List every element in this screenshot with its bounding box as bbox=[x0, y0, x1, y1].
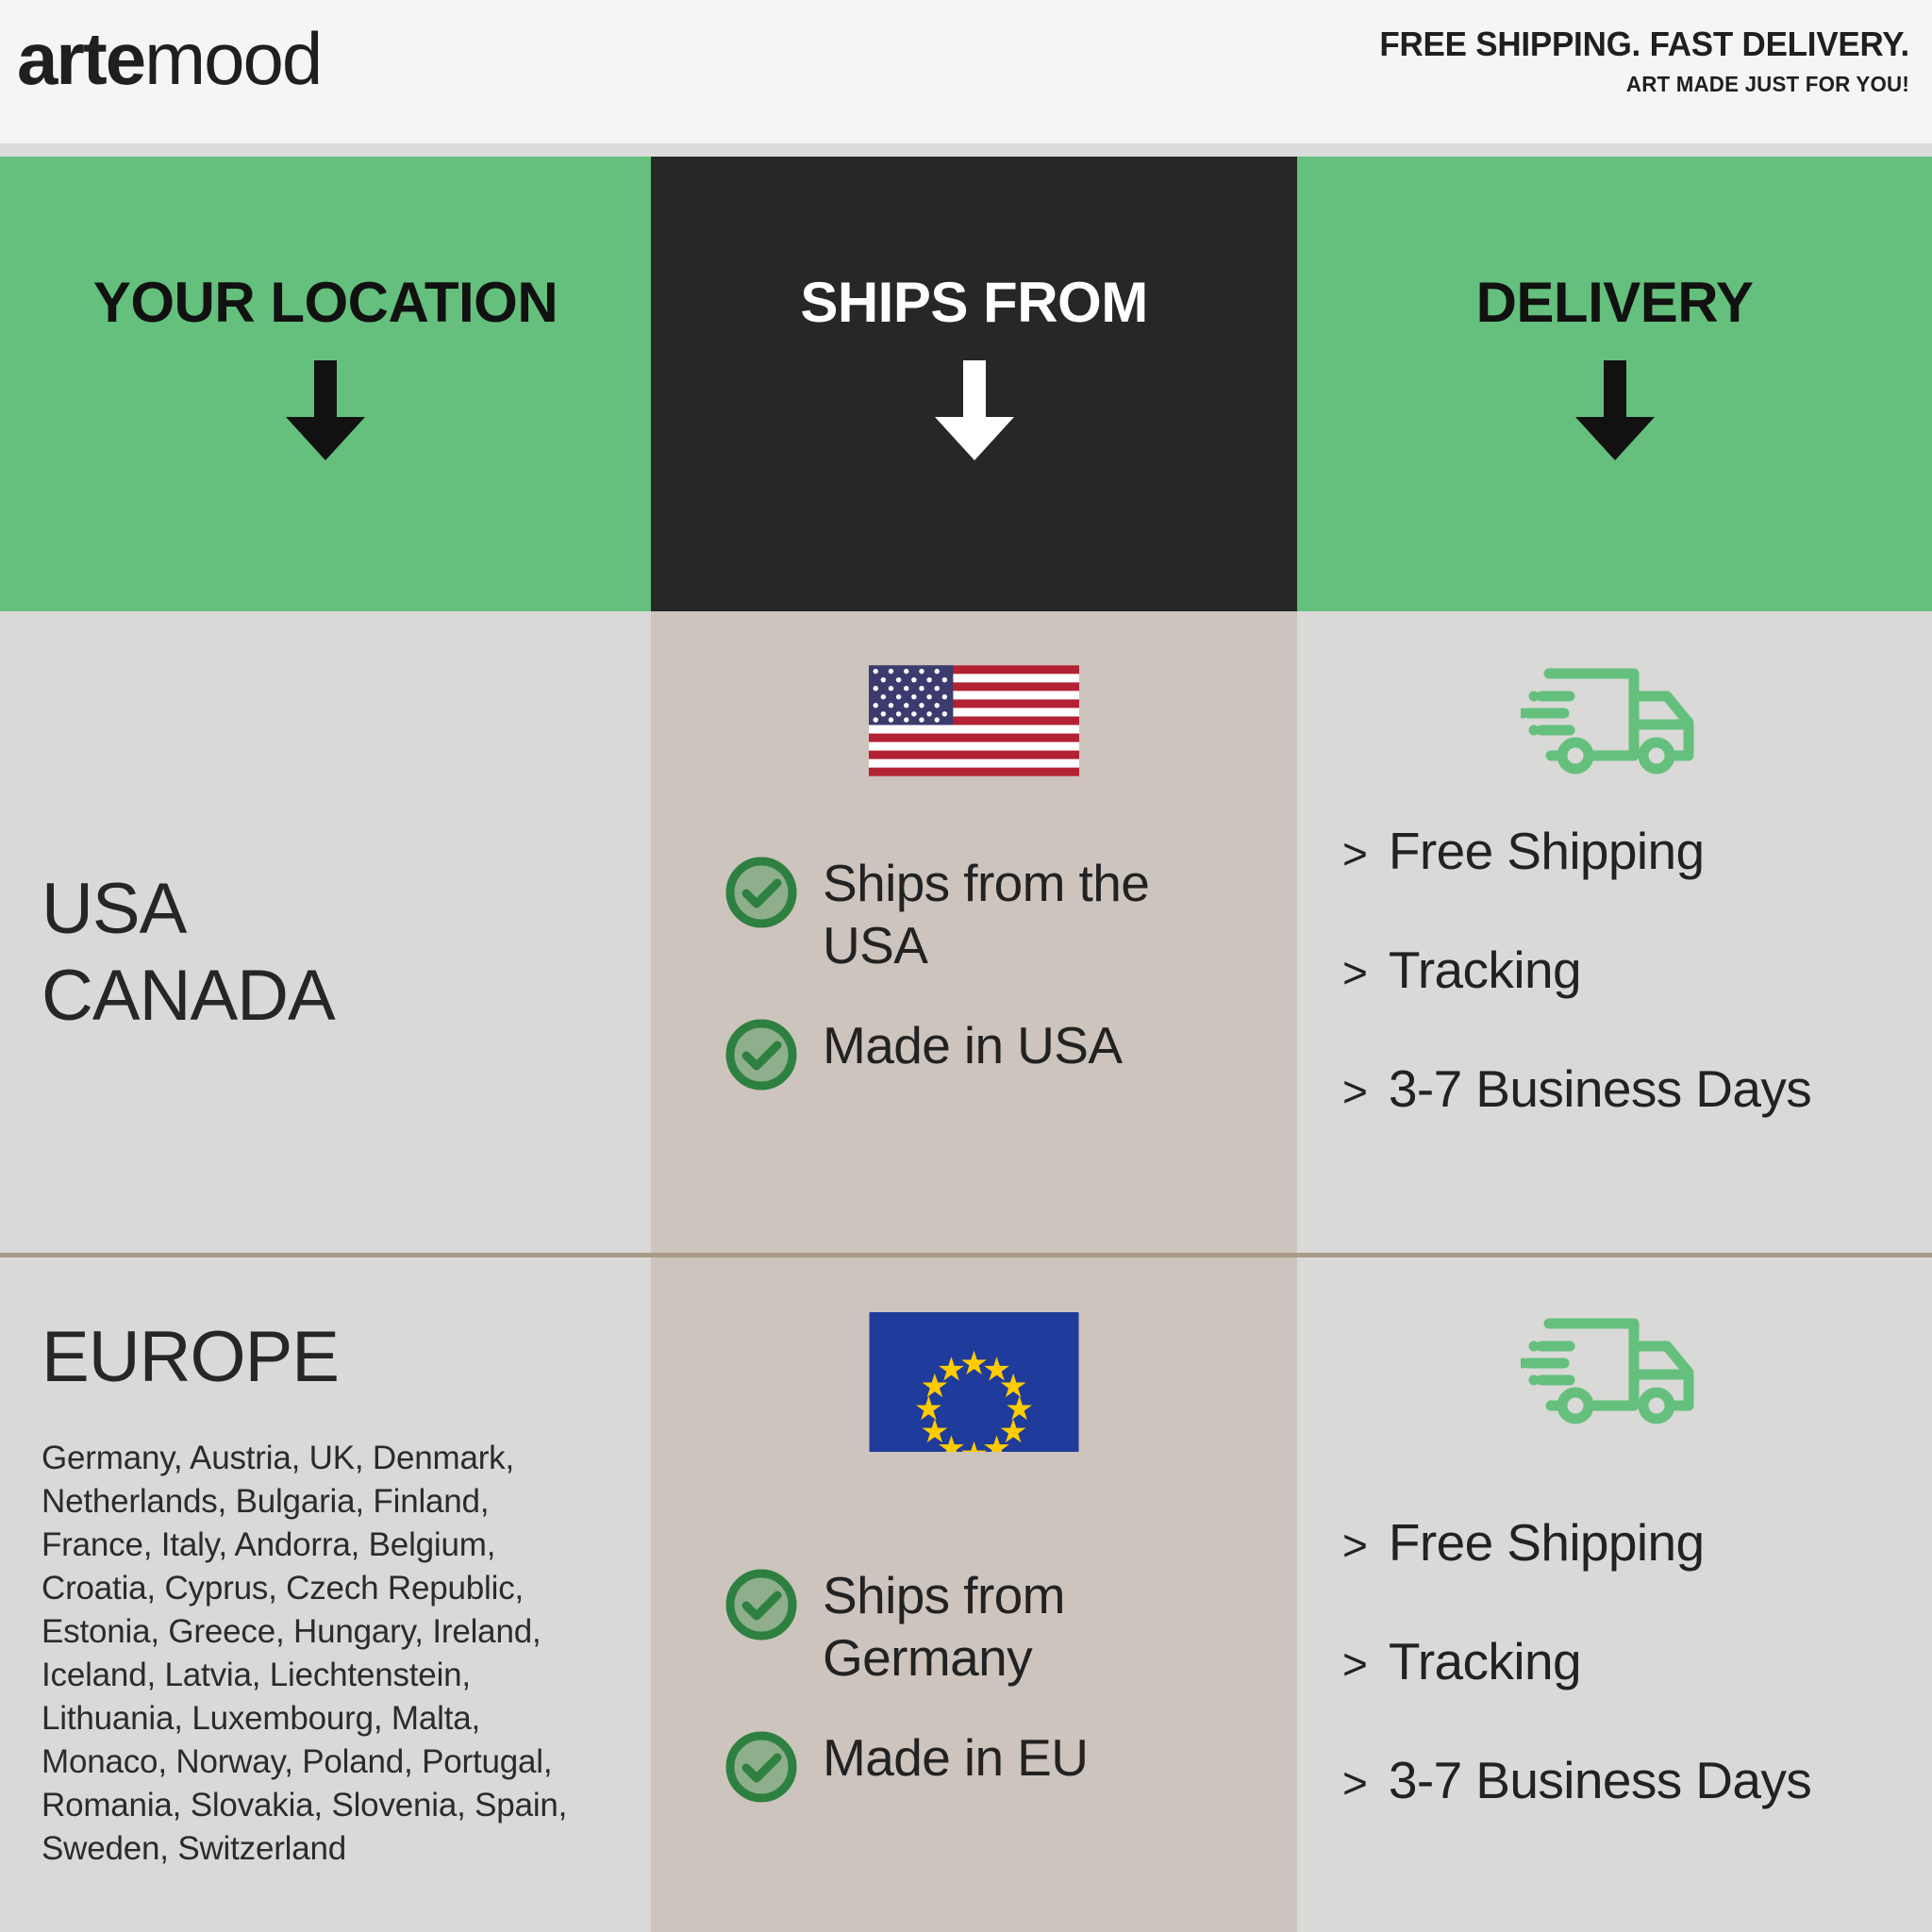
table-row-europe-ships-from: Ships from Germany Made in EU bbox=[651, 1257, 1297, 1932]
column-header-delivery: DELIVERY bbox=[1297, 157, 1932, 611]
delivery-truck-icon bbox=[1297, 1307, 1932, 1429]
arrow-down-icon bbox=[1297, 358, 1932, 462]
chevron-right-icon: > bbox=[1342, 946, 1368, 999]
column-ships-from: Ships from the USA Made in USA bbox=[651, 611, 1297, 1932]
column-header-ships-from: SHIPS FROM bbox=[651, 157, 1297, 611]
arrow-down-icon bbox=[651, 358, 1297, 462]
shipping-info-infographic: artemood FREE SHIPPING. FAST DELIVERY. A… bbox=[0, 0, 1932, 1932]
row-divider bbox=[0, 1253, 1932, 1257]
column-delivery: > Free Shipping > Tracking > 3-7 Busines… bbox=[1297, 611, 1932, 1932]
brand-tagline: FREE SHIPPING. FAST DELIVERY. ART MADE J… bbox=[1363, 23, 1909, 98]
check-circle-icon bbox=[724, 1730, 798, 1808]
table-row-usa-canada-location: USA CANADA bbox=[0, 611, 651, 1253]
column-title-your-location: YOUR LOCATION bbox=[0, 272, 651, 334]
chevron-right-icon: > bbox=[1342, 1757, 1368, 1809]
check-label: Made in USA bbox=[823, 1014, 1122, 1076]
table-row-europe-location: EUROPE Germany, Austria, UK, Denmark, Ne… bbox=[0, 1257, 651, 1932]
column-header-band: YOUR LOCATION SHIPS FROM DELIVERY bbox=[0, 157, 1932, 611]
list-item: > Tracking bbox=[1342, 940, 1811, 1000]
table-row-usa-ships-from: Ships from the USA Made in USA bbox=[651, 611, 1297, 1253]
chevron-right-icon: > bbox=[1342, 1065, 1368, 1118]
europe-country-list: Germany, Austria, UK, Denmark, Netherlan… bbox=[42, 1437, 608, 1871]
check-label: Made in EU bbox=[823, 1726, 1088, 1789]
usa-flag-icon bbox=[651, 660, 1297, 781]
delivery-benefits-usa: > Free Shipping > Tracking > 3-7 Busines… bbox=[1342, 821, 1811, 1177]
tagline-secondary: ART MADE JUST FOR YOU! bbox=[1379, 70, 1909, 98]
delivery-benefit-label: Tracking bbox=[1389, 1631, 1581, 1691]
location-names-europe: EUROPE bbox=[42, 1314, 339, 1401]
brand-logo-bold: arte bbox=[17, 17, 144, 100]
list-item: Ships from the USA bbox=[724, 852, 1228, 976]
list-item: Made in EU bbox=[724, 1726, 1228, 1808]
delivery-benefit-label: 3-7 Business Days bbox=[1389, 1058, 1811, 1119]
column-title-delivery: DELIVERY bbox=[1297, 272, 1932, 334]
check-label: Ships from Germany bbox=[823, 1564, 1228, 1689]
table-row-usa-delivery: > Free Shipping > Tracking > 3-7 Busines… bbox=[1297, 611, 1932, 1253]
column-your-location: USA CANADA EUROPE Germany, Austria, UK, … bbox=[0, 611, 651, 1932]
list-item: Ships from Germany bbox=[724, 1564, 1228, 1689]
column-title-ships-from: SHIPS FROM bbox=[651, 272, 1297, 334]
delivery-benefit-label: Free Shipping bbox=[1389, 1512, 1705, 1573]
ships-from-checklist-europe: Ships from Germany Made in EU bbox=[724, 1564, 1228, 1846]
shipping-table: USA CANADA EUROPE Germany, Austria, UK, … bbox=[0, 611, 1932, 1932]
list-item: Made in USA bbox=[724, 1014, 1228, 1096]
location-line-1: USA bbox=[42, 866, 335, 953]
list-item: > Free Shipping bbox=[1342, 1512, 1811, 1573]
chevron-right-icon: > bbox=[1342, 1638, 1368, 1690]
delivery-truck-icon bbox=[1297, 657, 1932, 779]
delivery-benefits-europe: > Free Shipping > Tracking > 3-7 Busines… bbox=[1342, 1512, 1811, 1869]
location-line-2: CANADA bbox=[42, 953, 335, 1040]
list-item: > 3-7 Business Days bbox=[1342, 1750, 1811, 1810]
column-header-your-location: YOUR LOCATION bbox=[0, 157, 651, 611]
ships-from-checklist-usa: Ships from the USA Made in USA bbox=[724, 852, 1228, 1134]
tagline-primary: FREE SHIPPING. FAST DELIVERY. bbox=[1379, 23, 1909, 66]
chevron-right-icon: > bbox=[1342, 1519, 1368, 1572]
delivery-benefit-label: Free Shipping bbox=[1389, 821, 1705, 881]
check-label: Ships from the USA bbox=[823, 852, 1228, 976]
list-item: > Tracking bbox=[1342, 1631, 1811, 1691]
table-row-europe-delivery: > Free Shipping > Tracking > 3-7 Busines… bbox=[1297, 1257, 1932, 1932]
list-item: > Free Shipping bbox=[1342, 821, 1811, 881]
delivery-benefit-label: Tracking bbox=[1389, 940, 1581, 1000]
brand-header: artemood FREE SHIPPING. FAST DELIVERY. A… bbox=[0, 0, 1932, 143]
location-names-usa-canada: USA CANADA bbox=[42, 866, 335, 1040]
brand-logo: artemood bbox=[17, 15, 321, 102]
check-circle-icon bbox=[724, 1568, 798, 1646]
header-rule bbox=[0, 143, 1932, 157]
location-line-1: EUROPE bbox=[42, 1314, 339, 1401]
eu-flag-icon bbox=[651, 1312, 1297, 1452]
list-item: > 3-7 Business Days bbox=[1342, 1058, 1811, 1119]
check-circle-icon bbox=[724, 1018, 798, 1096]
chevron-right-icon: > bbox=[1342, 827, 1368, 880]
brand-logo-light: mood bbox=[144, 17, 321, 100]
delivery-benefit-label: 3-7 Business Days bbox=[1389, 1750, 1811, 1810]
check-circle-icon bbox=[724, 856, 798, 934]
arrow-down-icon bbox=[0, 358, 651, 462]
